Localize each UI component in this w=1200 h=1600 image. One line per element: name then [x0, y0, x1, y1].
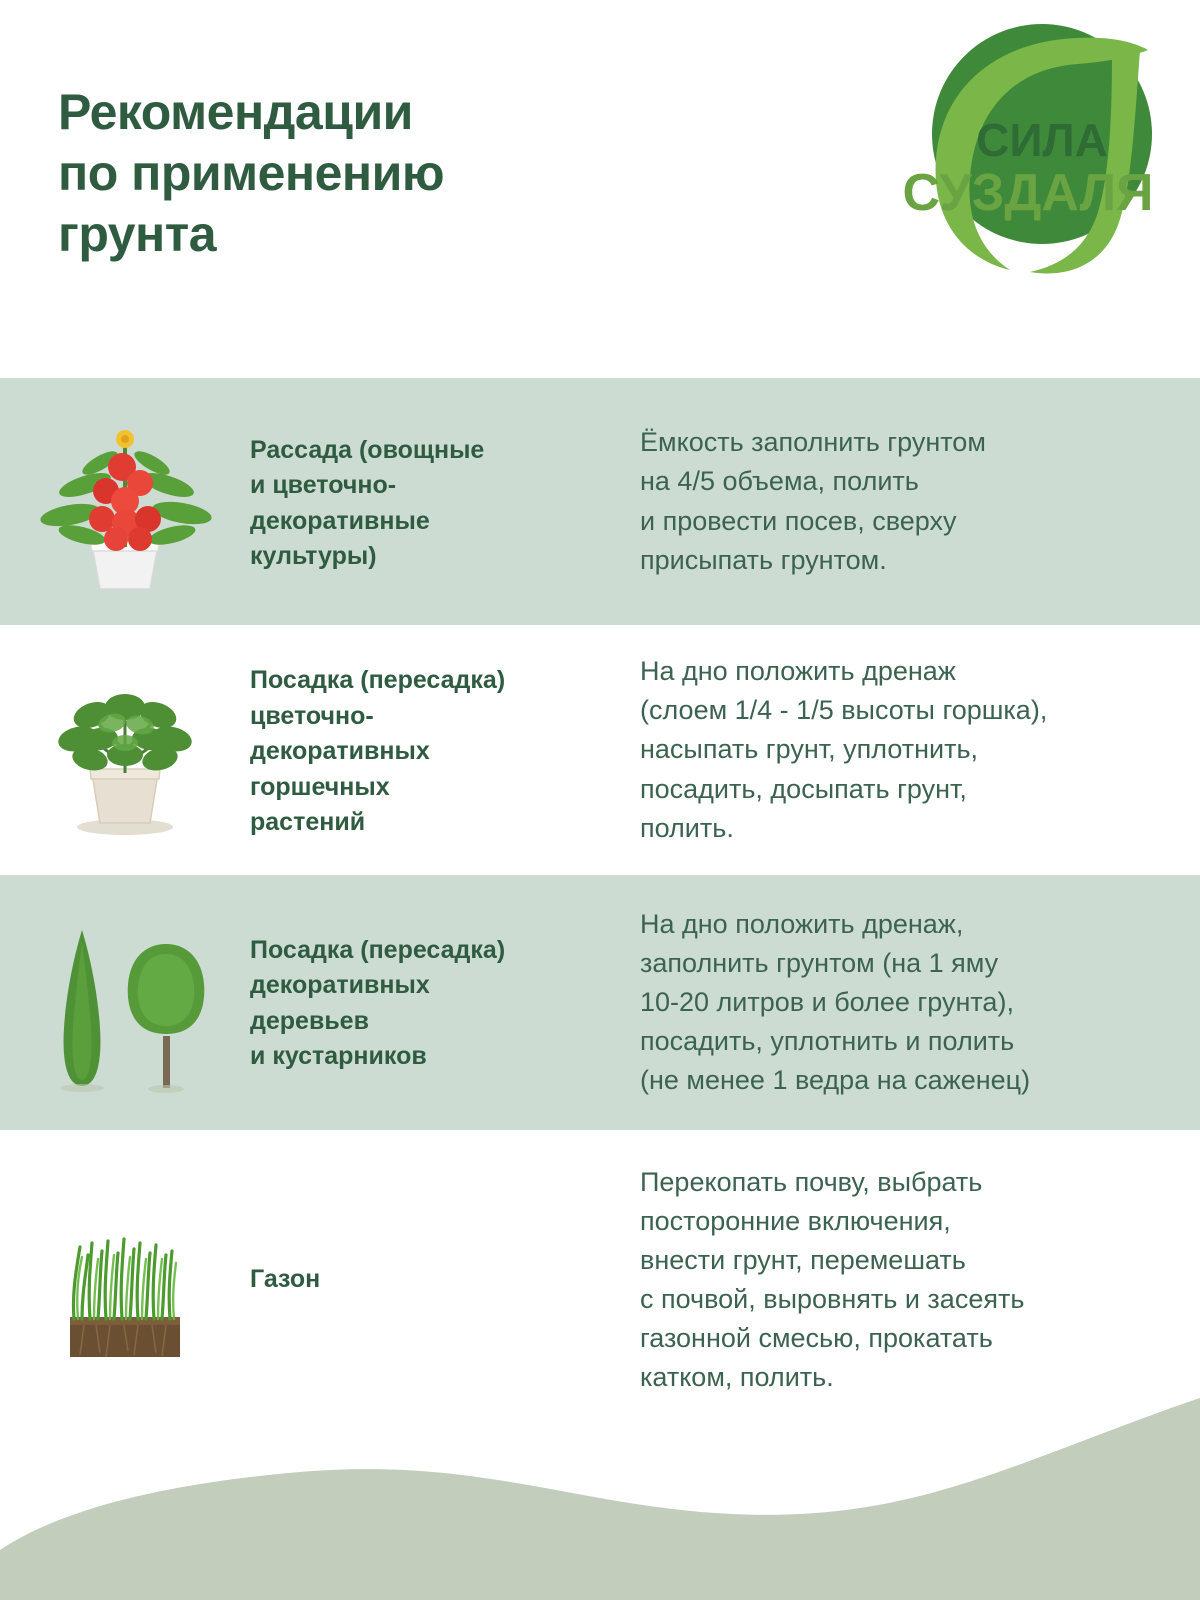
table-row: Рассада (овощные и цветочно- декоративны…: [0, 378, 1200, 625]
row-image-cell: [0, 1130, 250, 1430]
row-image-cell: [0, 625, 250, 875]
row-image-cell: [0, 378, 250, 625]
conifer-tree: [64, 930, 101, 1086]
tomato-seedling-icon: [30, 407, 220, 597]
row-description: На дно положить дренаж (слоем 1/4 - 1/5 …: [640, 652, 1200, 848]
logo-text-line2: СУЗДАЛЯ: [903, 164, 1154, 222]
recommendation-rows: Рассада (овощные и цветочно- декоративны…: [0, 378, 1200, 1430]
row-title: Газон: [250, 1262, 640, 1298]
row-description: Ёмкость заполнить грунтом на 4/5 объема,…: [640, 423, 1200, 580]
row-title: Посадка (пересадка) декоративных деревье…: [250, 931, 640, 1075]
page-title: Рекомендации по применению грунта: [58, 82, 678, 265]
page-header: Рекомендации по применению грунта СИЛА С…: [0, 0, 1200, 378]
flower: [116, 430, 134, 448]
shrub-tree: [128, 944, 205, 1088]
lawn-turf-icon: [30, 1185, 220, 1375]
table-row: Посадка (пересадка) цветочно- декоративн…: [0, 625, 1200, 875]
potted-houseplant-icon: [30, 655, 220, 845]
infographic-page: Рекомендации по применению грунта СИЛА С…: [0, 0, 1200, 1600]
row-description: На дно положить дренаж, заполнить грунто…: [640, 905, 1200, 1101]
table-row: Газон Перекопать почву, выбрать посторон…: [0, 1130, 1200, 1430]
row-image-cell: [0, 875, 250, 1130]
row-title: Посадка (пересадка) цветочно- декоративн…: [250, 659, 640, 841]
conifer-and-shrub-icon: [30, 908, 220, 1098]
logo-text-line1: СИЛА: [976, 114, 1108, 166]
row-title: Рассада (овощные и цветочно- декоративны…: [250, 429, 640, 575]
sila-suzdalya-logo: СИЛА СУЗДАЛЯ: [890, 14, 1170, 284]
table-row: Посадка (пересадка) декоративных деревье…: [0, 875, 1200, 1130]
row-description: Перекопать почву, выбрать посторонние вк…: [640, 1163, 1200, 1398]
